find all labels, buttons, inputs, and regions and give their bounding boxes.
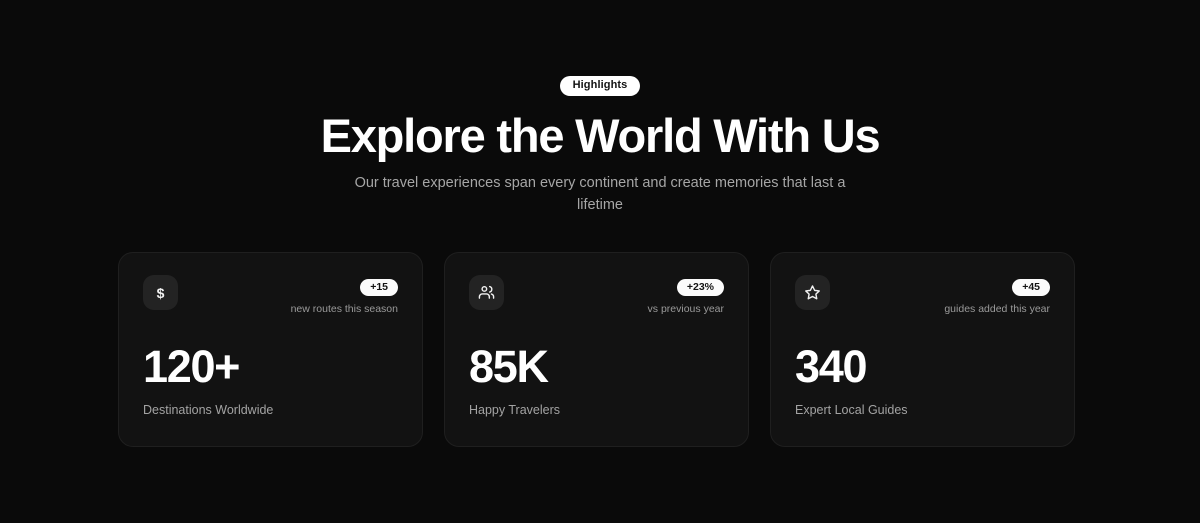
- dollar-icon: $: [143, 275, 178, 310]
- stat-label: Happy Travelers: [469, 403, 724, 417]
- stat-card-header: $ +15 new routes this season: [143, 275, 398, 321]
- page-subtitle-line-1: Our travel experiences span every contin…: [355, 175, 779, 191]
- stat-card-header: +45 guides added this year: [795, 275, 1050, 321]
- highlights-badge: Highlights: [560, 76, 641, 96]
- trend-caption: new routes this season: [291, 303, 398, 315]
- users-icon: [469, 275, 504, 310]
- stat-card-trend: +15 new routes this season: [291, 275, 398, 315]
- stat-value: 85K: [469, 344, 724, 390]
- header-badge-wrap: Highlights: [0, 76, 1200, 96]
- stat-card-header: +23% vs previous year: [469, 275, 724, 321]
- dollar-icon-glyph: $: [157, 286, 165, 300]
- stat-card-destinations[interactable]: $ +15 new routes this season 120+ Destin…: [118, 252, 423, 447]
- page-subtitle: Our travel experiences span every contin…: [340, 172, 860, 216]
- page-header: Highlights Explore the World With Us Our…: [0, 0, 1200, 216]
- stat-label: Destinations Worldwide: [143, 403, 398, 417]
- highlights-page: Highlights Explore the World With Us Our…: [0, 0, 1200, 523]
- stat-card-trend: +23% vs previous year: [648, 275, 724, 315]
- page-title: Explore the World With Us: [0, 109, 1200, 163]
- trend-caption: guides added this year: [944, 303, 1050, 315]
- trend-badge: +45: [1012, 279, 1050, 296]
- stat-card-travelers[interactable]: +23% vs previous year 85K Happy Traveler…: [444, 252, 749, 447]
- trend-badge: +23%: [677, 279, 724, 296]
- stat-label: Expert Local Guides: [795, 403, 1050, 417]
- star-icon: [795, 275, 830, 310]
- trend-caption: vs previous year: [648, 303, 724, 315]
- stat-value: 120+: [143, 344, 398, 390]
- stats-card-list: $ +15 new routes this season 120+ Destin…: [118, 252, 1083, 447]
- stat-card-trend: +45 guides added this year: [944, 275, 1050, 315]
- trend-badge: +15: [360, 279, 398, 296]
- stat-card-guides[interactable]: +45 guides added this year 340 Expert Lo…: [770, 252, 1075, 447]
- stat-value: 340: [795, 344, 1050, 390]
